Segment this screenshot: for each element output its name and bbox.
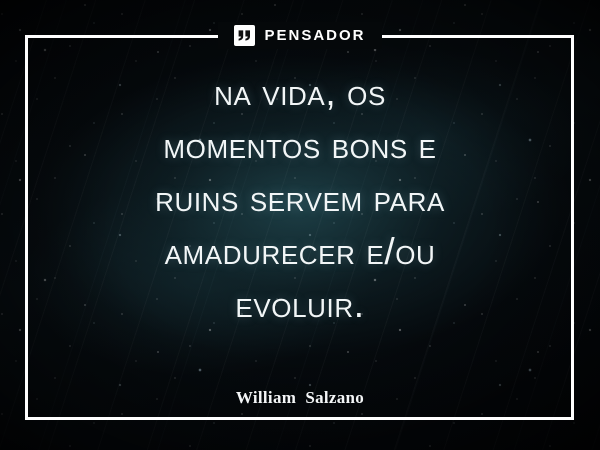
quotation-mark-icon <box>234 25 255 46</box>
brand-name: PENSADOR <box>264 28 365 43</box>
quote-line: amadurecer e/ou <box>50 225 550 278</box>
brand-plate: PENSADOR <box>218 22 381 49</box>
brand-lockup[interactable]: PENSADOR <box>0 21 600 49</box>
quote-line: momentos bons e <box>50 119 550 172</box>
quote-line: Na vida, os <box>50 66 550 119</box>
quote-author: William Salzano <box>0 388 600 408</box>
quote-text: Na vida, os momentos bons e ruins servem… <box>50 66 550 331</box>
quote-line: evoluir. <box>50 278 550 331</box>
quote-line: ruins servem para <box>50 172 550 225</box>
quote-card: PENSADOR Na vida, os momentos bons e rui… <box>0 0 600 450</box>
